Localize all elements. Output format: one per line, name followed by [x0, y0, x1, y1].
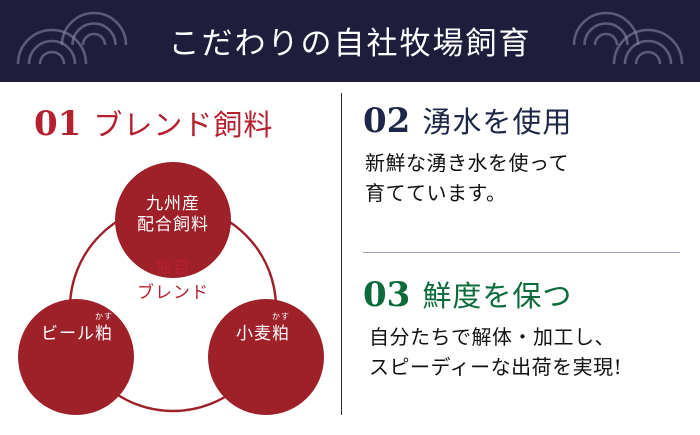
- venn-label-right-base: 小麦: [236, 324, 272, 344]
- section-03-number: 03: [363, 275, 410, 315]
- venn-diagram: 九州産 配合飼料 ビールかす粕 小麦かす粕 独自 ブレンド: [8, 160, 338, 430]
- section-01-heading: 01 ブレンド飼料: [34, 102, 273, 144]
- venn-label-left-kanji: 粕: [95, 324, 113, 344]
- section-01-blend-feed: 01 ブレンド飼料 九州産 配合飼料 ビールかす粕 小麦かす粕 独自 ブレンド: [0, 82, 341, 435]
- venn-label-top-line1: 九州産: [8, 194, 338, 215]
- section-02-heading: 02 湧水を使用: [363, 99, 572, 141]
- section-02-body-line1: 新鮮な湧き水を使って: [365, 148, 685, 178]
- section-01-number: 01: [34, 104, 81, 144]
- venn-label-right: 小麦かす粕: [198, 324, 328, 345]
- section-03-body-line1: 自分たちで解体・加工し、: [369, 322, 699, 352]
- section-01-title: ブレンド飼料: [93, 102, 273, 144]
- venn-center-line2: ブレンド: [8, 281, 338, 306]
- right-column: 02 湧水を使用 新鮮な湧き水を使って 育てています。 03 鮮度を保つ 自分た…: [341, 82, 700, 435]
- section-03-title: 鮮度を保つ: [422, 273, 572, 315]
- venn-label-left: ビールかす粕: [12, 324, 142, 345]
- venn-label-right-ruby: かす: [272, 313, 290, 321]
- venn-center-line1: 独自: [8, 256, 338, 281]
- section-02-body-line2: 育てています。: [365, 178, 685, 208]
- section-03-body-line2: スピーディーな出荷を実現!: [369, 352, 699, 382]
- venn-circle-right: [208, 299, 324, 415]
- venn-label-right-kanji: 粕: [272, 324, 290, 344]
- venn-label-top: 九州産 配合飼料: [8, 194, 338, 237]
- venn-label-top-line2: 配合飼料: [8, 215, 338, 236]
- page-header: こだわりの自社牧場飼育: [0, 0, 700, 82]
- venn-center-label: 独自 ブレンド: [8, 256, 338, 305]
- section-03-heading: 03 鮮度を保つ: [363, 273, 572, 315]
- section-02-number: 02: [363, 101, 410, 141]
- section-03-body: 自分たちで解体・加工し、 スピーディーな出荷を実現!: [369, 322, 699, 382]
- section-02-body: 新鮮な湧き水を使って 育てています。: [365, 148, 685, 208]
- venn-label-left-ruby: かす: [95, 313, 113, 321]
- venn-circle-left: [18, 299, 134, 415]
- page-title: こだわりの自社牧場飼育: [0, 0, 700, 82]
- venn-label-left-ruby-group: かす粕: [95, 324, 113, 345]
- section-02-title: 湧水を使用: [422, 99, 572, 141]
- venn-label-left-base: ビール: [41, 324, 95, 344]
- venn-label-right-ruby-group: かす粕: [272, 324, 290, 345]
